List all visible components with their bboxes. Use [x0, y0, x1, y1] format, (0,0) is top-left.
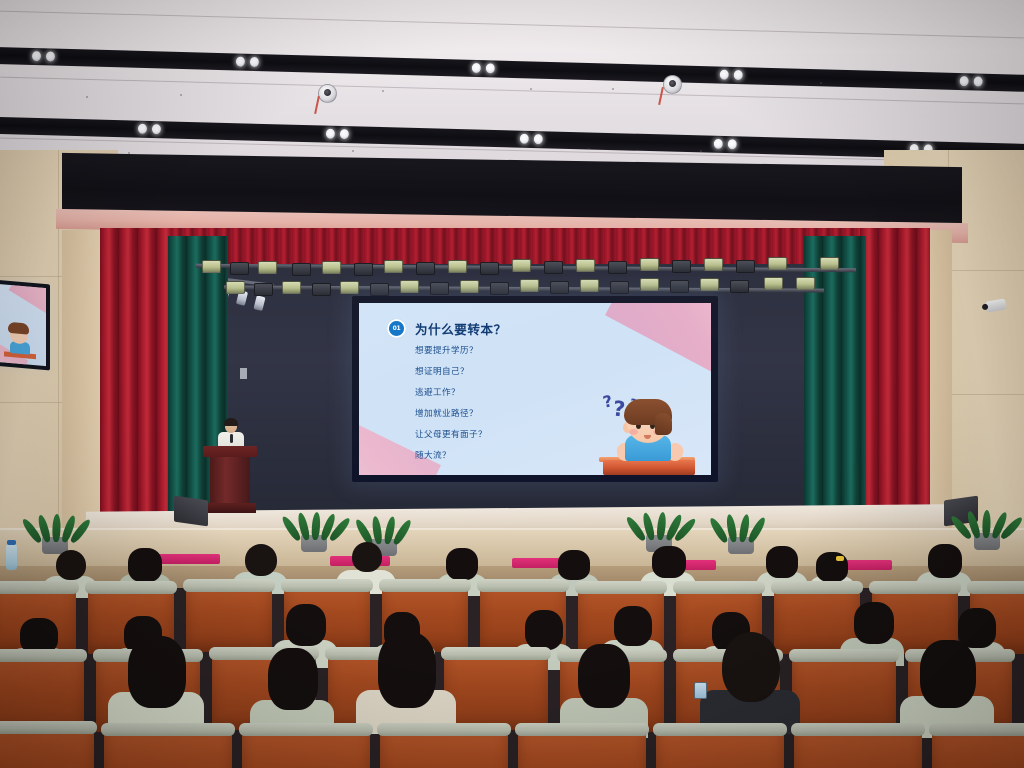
- red-curtain-right: [860, 228, 930, 518]
- auditorium-seat[interactable]: [792, 656, 896, 732]
- wall-speaker: [174, 496, 208, 527]
- ceiling-seam: [0, 11, 1024, 39]
- side-wall-monitor[interactable]: [0, 280, 50, 371]
- hair-clip: [836, 556, 844, 561]
- audience-member: [356, 632, 456, 732]
- slide-bullet: 想要提升学历？: [415, 347, 487, 356]
- lectern-body: [210, 457, 250, 503]
- audience-member: [560, 644, 648, 734]
- auditorium-seat[interactable]: [518, 730, 646, 768]
- sprinkler-head-icon: [318, 84, 337, 103]
- side-monitor-accent: [9, 284, 46, 315]
- microphone-icon: [230, 434, 233, 443]
- boy-desk: [603, 460, 695, 475]
- slide-number-text: 01: [393, 325, 401, 332]
- red-curtain-left: [100, 228, 172, 518]
- side-monitor-screen: [0, 284, 46, 366]
- auditorium-seat[interactable]: [0, 728, 94, 768]
- slide-bullet: 随大流？: [415, 452, 487, 461]
- slide-bullet: 让父母更有面子？: [415, 431, 487, 440]
- lectern-top: [203, 446, 257, 457]
- boy-hair-side: [655, 413, 672, 435]
- bottle-cap: [7, 540, 16, 545]
- slide-bullet: 想证明自己？: [415, 368, 487, 377]
- auditorium-seat[interactable]: [242, 730, 370, 768]
- auditorium-seat[interactable]: [104, 730, 232, 768]
- auditorium-photo: 01 为什么要转本？ 想要提升学历？ 想证明自己？ 逃避工作？ 增加就业路径？ …: [0, 0, 1024, 768]
- side-monitor-illustration: [2, 320, 38, 359]
- audience-member: [250, 648, 334, 734]
- lectern-base: [204, 503, 256, 513]
- sprinkler-head-icon: [663, 75, 682, 94]
- ceiling: [0, 0, 1024, 172]
- auditorium-seat[interactable]: [932, 730, 1024, 768]
- presenter-hair: [224, 418, 238, 426]
- slide-accent-top-right: [605, 303, 711, 376]
- ceiling-light-band: [0, 46, 1024, 93]
- boy-cheek: [629, 429, 638, 435]
- slide-ellipsis: ……: [415, 474, 487, 475]
- thinking-boy-illustration: ? ? ?: [601, 379, 697, 475]
- slide-bullet: 增加就业路径？: [415, 410, 487, 419]
- lectern: [203, 446, 257, 518]
- auditorium-seat[interactable]: [380, 730, 508, 768]
- auditorium-seat[interactable]: [656, 730, 784, 768]
- audience-member: [700, 632, 800, 732]
- smartphone: [694, 682, 707, 699]
- slide-bullet-list: 想要提升学历？ 想证明自己？ 逃避工作？ 增加就业路径？ 让父母更有面子？ 随大…: [415, 347, 487, 475]
- audience-member: [108, 636, 204, 732]
- led-screen[interactable]: 01 为什么要转本？ 想要提升学历？ 想证明自己？ 逃避工作？ 增加就业路径？ …: [352, 296, 718, 482]
- slide-title: 为什么要转本？: [415, 319, 507, 338]
- sprinkler-stem: [314, 96, 320, 114]
- audience-seating: [0, 540, 1024, 768]
- water-bottle: [6, 544, 17, 570]
- slide-bullet: 逃避工作？: [415, 389, 487, 398]
- sprinkler-stem: [658, 87, 664, 105]
- auditorium-seat[interactable]: [444, 654, 548, 730]
- slide-number-badge: 01: [387, 319, 406, 338]
- audience-member: [900, 640, 994, 734]
- auditorium-seat[interactable]: [794, 730, 922, 768]
- presentation-slide: 01 为什么要转本？ 想要提升学历？ 想证明自己？ 逃避工作？ 增加就业路径？ …: [359, 303, 711, 475]
